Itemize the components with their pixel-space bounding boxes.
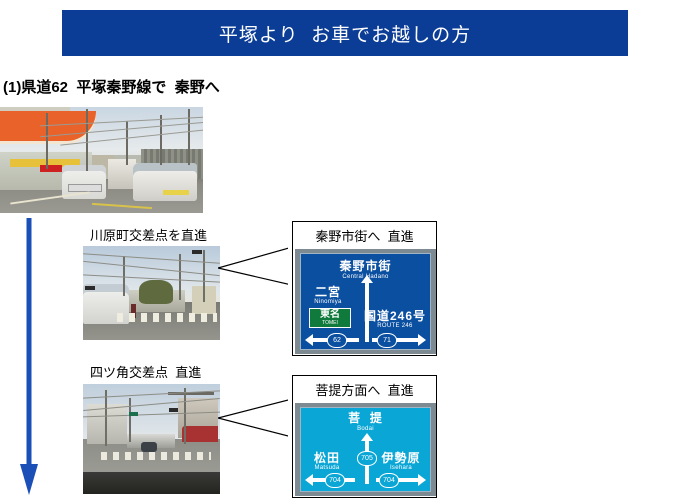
route-shield-71: 71 xyxy=(377,333,397,348)
page-banner: 平塚より お車でお越しの方 xyxy=(62,10,628,56)
road-sign-photo-bodai: 菩 提 Bodai 松田 Matsuda 伊勢原 Isehara 705 704… xyxy=(295,403,436,496)
traffic-signal xyxy=(192,250,202,254)
crosswalk-markings xyxy=(117,313,217,322)
road-sign-photo-hadano: 秦野市街 Central Hadano 二宮 Ninomiya 東名 TOMEI… xyxy=(295,249,436,354)
traffic-signal xyxy=(129,412,138,416)
tomei-badge-jp: 東名 xyxy=(312,310,348,321)
sign-right-destination-en: ROUTE 246 xyxy=(364,323,426,329)
route-shield-705: 705 xyxy=(357,451,377,466)
gas-station-price-sign xyxy=(40,165,62,172)
sign-center-destination-en: Bodai xyxy=(301,426,430,432)
callout-tail-hadano xyxy=(218,246,296,288)
road-sign-board: 菩 提 Bodai 松田 Matsuda 伊勢原 Isehara 705 704… xyxy=(300,407,431,492)
flow-arrow-down xyxy=(20,218,38,495)
road-sign-board: 秦野市街 Central Hadano 二宮 Ninomiya 東名 TOMEI… xyxy=(300,253,431,350)
photo-road-gas xyxy=(0,107,203,213)
callout-bodai: 菩提方面へ 直進 菩 提 Bodai 松田 Matsuda 伊勢原 Isehar… xyxy=(292,375,437,498)
tomei-expressway-badge: 東名 TOMEI xyxy=(309,308,351,328)
tomei-badge-en: TOMEI xyxy=(312,321,348,326)
white-minivan xyxy=(133,163,197,201)
crosswalk-markings xyxy=(101,452,211,460)
utility-pole xyxy=(105,390,107,446)
utility-pole xyxy=(203,250,205,302)
utility-pole xyxy=(46,113,48,169)
route-shield-704-left: 704 xyxy=(325,473,345,488)
sign-right-destination-jp: 伊勢原 xyxy=(376,452,426,464)
callout-label-bodai: 菩提方面へ 直進 xyxy=(293,376,436,402)
sign-right-destination-en: Isehara xyxy=(376,465,426,471)
sign-left-destination-en: Matsuda xyxy=(305,465,349,471)
red-shop-awning xyxy=(182,426,218,442)
sign-left-destination-jp: 二宮 xyxy=(307,286,349,298)
photo-kawaharacho xyxy=(83,246,220,340)
sign-left-destination-jp: 松田 xyxy=(305,452,349,464)
page-title: 平塚より お車でお越しの方 xyxy=(219,20,471,47)
utility-pole xyxy=(86,109,88,171)
utility-pole xyxy=(160,115,162,165)
sign-center-destination-jp: 秦野市街 xyxy=(301,260,430,272)
traffic-signal xyxy=(169,408,178,412)
roadside-trees xyxy=(139,280,173,304)
callout-tail-bodai xyxy=(218,398,296,440)
sign-straight-arrow xyxy=(365,282,369,342)
section-heading: (1)県道62 平塚秦野線で 秦野へ xyxy=(3,76,220,97)
utility-pole xyxy=(129,398,131,442)
sign-left-destination-en: Ninomiya xyxy=(307,299,349,305)
route-shield-704-right: 704 xyxy=(379,473,399,488)
caption-yotsukado: 四ツ角交差点 直進 xyxy=(90,362,201,381)
route-shield-62: 62 xyxy=(327,333,347,348)
photo-yotsukado xyxy=(83,384,220,494)
sign-right-destination-jp: 国道246号 xyxy=(364,310,426,322)
sign-center-destination-jp: 菩 提 xyxy=(301,412,430,424)
car-dashboard xyxy=(83,472,220,494)
dark-car xyxy=(141,442,157,452)
callout-hadano: 秦野市街へ 直進 秦野市街 Central Hadano 二宮 Ninomiya… xyxy=(292,221,437,356)
utility-pole xyxy=(184,388,186,444)
truck-near xyxy=(108,159,136,189)
callout-label-hadano: 秦野市街へ 直進 xyxy=(293,222,436,248)
caption-kawaharacho: 川原町交差点を直進 xyxy=(90,225,207,244)
traffic-signal xyxy=(85,286,95,290)
